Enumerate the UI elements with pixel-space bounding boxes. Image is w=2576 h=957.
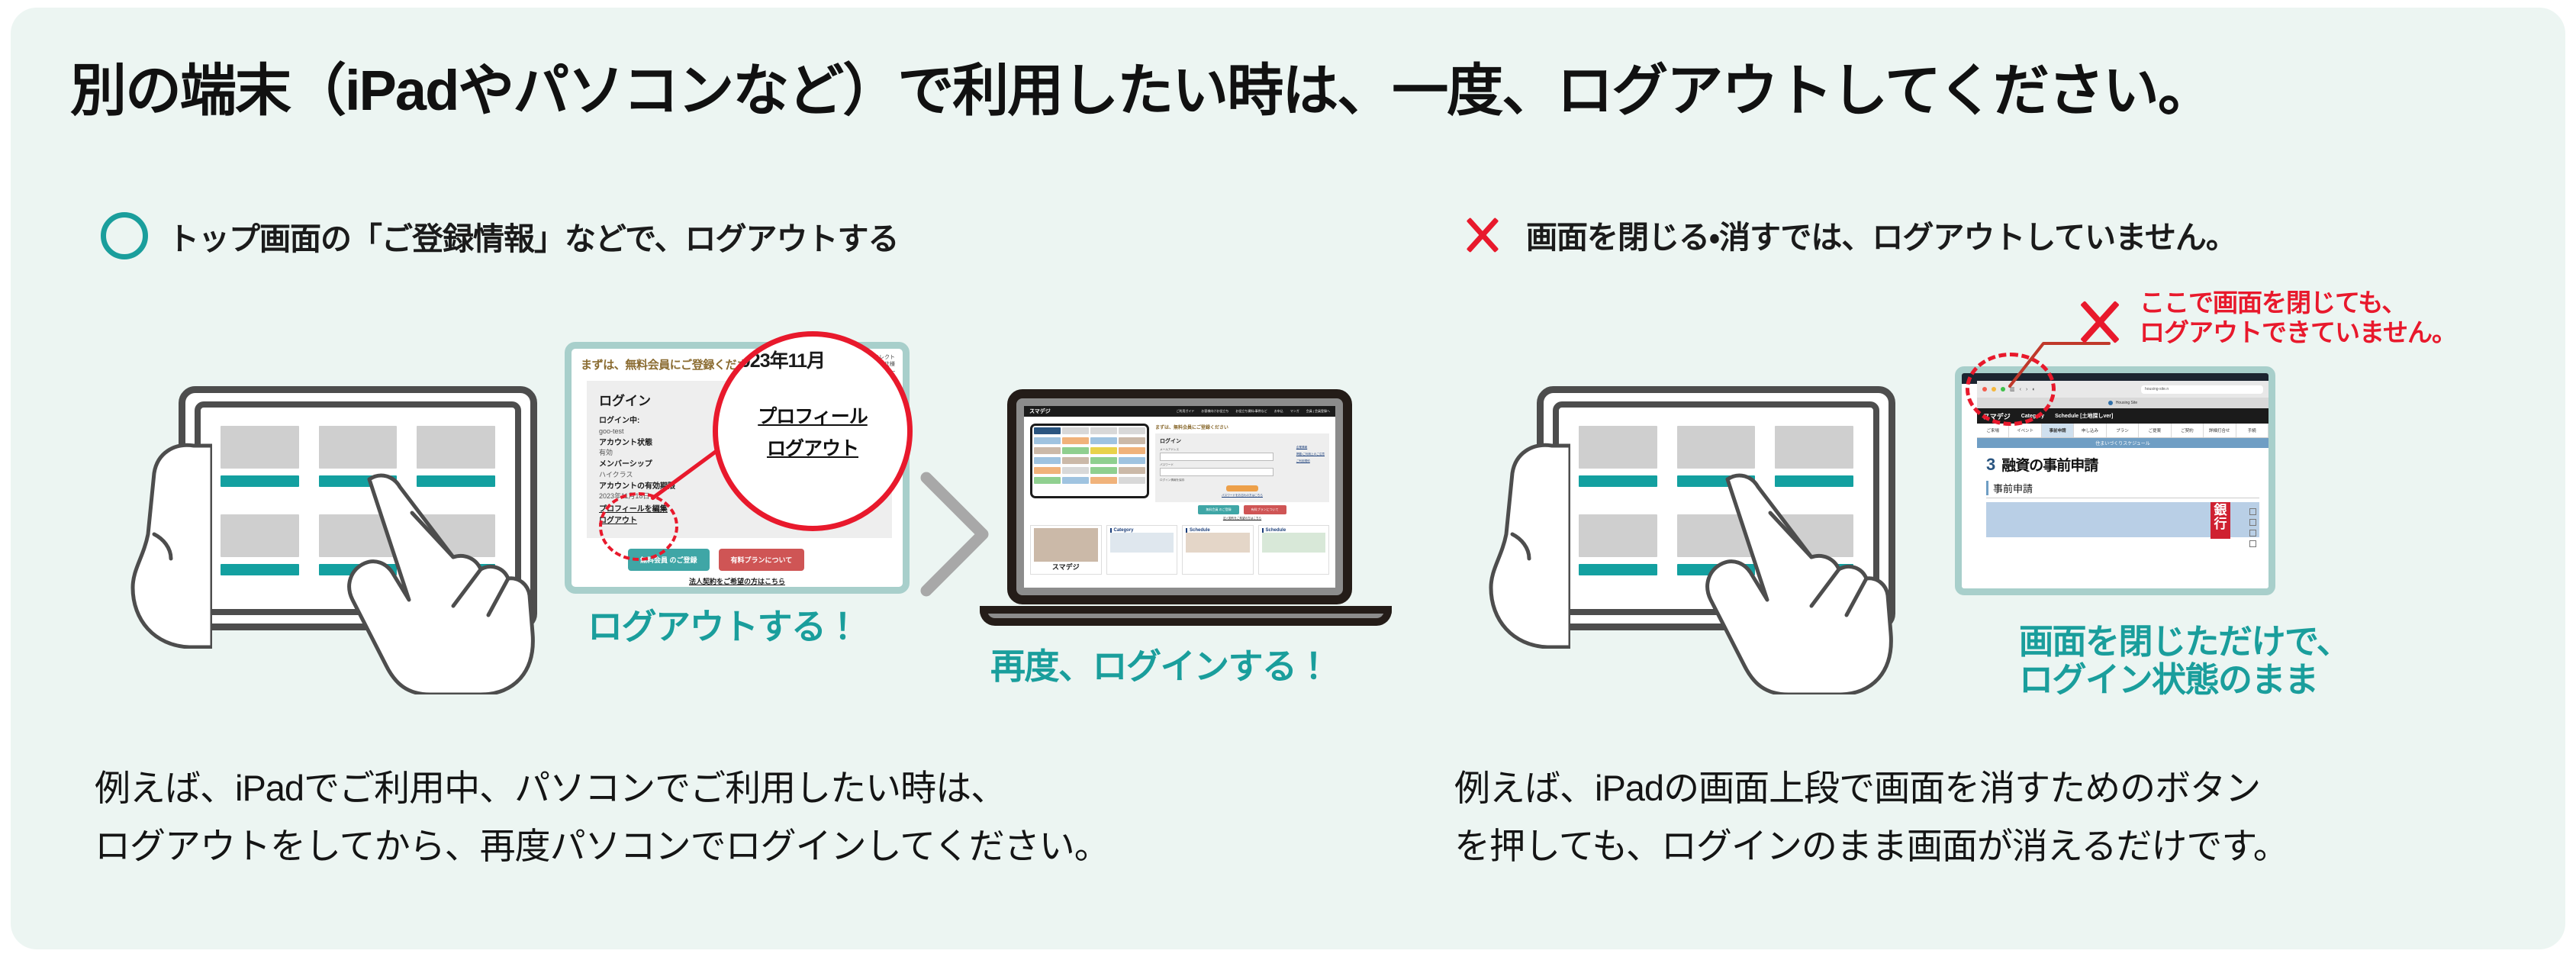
site-login-column: まずは、無料会員にご登録ください ログイン メールアドレス パスワード ログイン… xyxy=(1155,424,1329,520)
magnified-logout-link[interactable]: ログアウト xyxy=(767,433,858,461)
left-body-text: 例えば、iPadでご利用中、パソコンでご利用したい時は、 ログアウトをしてから、… xyxy=(95,759,1109,875)
tile-thumbnail xyxy=(221,514,299,557)
step-tab[interactable]: ご契約 xyxy=(2172,424,2204,437)
page-heading: 3 融資の事前申請 xyxy=(1977,448,2268,478)
divider xyxy=(1986,498,2259,498)
brand-name: スマデジ xyxy=(1034,562,1098,572)
state-line-1: 画面を閉じただけで、 xyxy=(2019,623,2349,661)
site-nav-item[interactable]: お役立ち資料・事例など xyxy=(1235,409,1267,414)
site-body: まずは、無料会員にご登録ください ログイン メールアドレス パスワード ログイン… xyxy=(1024,417,1335,520)
right-body-line-2: を押しても、ログインのまま画面が消えるだけです。 xyxy=(1454,817,2288,875)
favicon-icon xyxy=(2108,401,2113,405)
left-tablet-illustration xyxy=(148,359,575,687)
step-tab[interactable]: 詳細打合せ xyxy=(2204,424,2236,437)
magnified-view: 2023年11月 プロフィール ログアウト xyxy=(713,331,913,531)
schedule-card-2[interactable]: Schedule xyxy=(1258,525,1330,575)
right-subheading: 画面を閉じる・消すでは、ログアウトしていません。 xyxy=(1459,211,2236,258)
heading-title: 融資の事前申請 xyxy=(2001,454,2098,475)
schedule-card[interactable]: Schedule xyxy=(1182,525,1254,575)
checklist xyxy=(2249,508,2256,547)
side-link[interactable]: ご利用規約 xyxy=(1296,459,1325,463)
hand-holding-icon xyxy=(1479,443,1570,649)
site-nav-item[interactable]: お申込 xyxy=(1274,409,1283,414)
step-tab-active[interactable]: 事前申請 xyxy=(2042,424,2074,437)
section-image: 銀行 xyxy=(1986,502,2259,537)
laptop-lid: スマデジ ご利用ガイド お客様向けお役立ち お役立ち資料・事例など お申込 マン… xyxy=(1007,389,1352,604)
right-tablet-illustration xyxy=(1506,359,1934,687)
site-nav-item[interactable]: 会員 | 会員登録へ xyxy=(1306,409,1330,414)
free-signup-button[interactable]: 無料会員 のご登録 xyxy=(1198,505,1238,514)
warning-x-icon xyxy=(2071,293,2129,351)
brand-photo xyxy=(1034,528,1098,562)
tile-thumbnail xyxy=(221,426,299,469)
brand-card: スマデジ xyxy=(1030,525,1102,575)
warning-line-1: ここで画面を閉じても、 xyxy=(2140,288,2456,318)
hand-pointing-icon xyxy=(339,443,591,694)
tile-bar xyxy=(1579,564,1657,575)
step-tab[interactable]: プラン xyxy=(2107,424,2139,437)
left-subheading-label: トップ画面の「ご登録情報」などで、ログアウトする xyxy=(168,213,899,259)
state-line-2: ログイン状態のまま xyxy=(2019,661,2349,699)
site-logo: スマデジ xyxy=(1029,408,1051,415)
site-nav-item[interactable]: ご利用ガイド xyxy=(1176,409,1194,414)
tile-bar xyxy=(1579,475,1657,487)
content-tile xyxy=(221,514,299,591)
side-link[interactable]: 企業情報 xyxy=(1296,446,1325,449)
site-nav-item[interactable]: マンガ xyxy=(1290,409,1299,414)
browser-tab-title: Housing Site xyxy=(2116,401,2137,405)
tile-thumbnail xyxy=(1579,426,1657,469)
category-card[interactable]: Category xyxy=(1106,525,1178,575)
section-title: 事前申請 xyxy=(1986,481,2259,495)
login-submit-button[interactable] xyxy=(1226,485,1258,491)
relogin-callout: 再度、ログインする！ xyxy=(990,647,1330,687)
warning-line-2: ログアウトできていません。 xyxy=(2140,318,2456,348)
warning-callout: ここで画面を閉じても、 ログアウトできていません。 xyxy=(2140,288,2456,348)
address-bar[interactable]: housing-site.n xyxy=(2141,385,2263,394)
highlight-ellipse xyxy=(599,492,678,561)
laptop-screen: スマデジ ご利用ガイド お客様向けお役立ち お役立ち資料・事例など お申込 マン… xyxy=(1024,406,1335,588)
magnified-date: 2023年11月 xyxy=(730,346,825,373)
stay-logged-in-callout: 画面を閉じただけで、 ログイン状態のまま xyxy=(2019,623,2349,700)
site-nav-item[interactable]: お客様向けお役立ち xyxy=(1201,409,1228,414)
hero-schedule-image xyxy=(1030,424,1149,498)
laptop-base xyxy=(980,606,1392,626)
site-navbar: スマデジ ご利用ガイド お客様向けお役立ち お役立ち資料・事例など お申込 マン… xyxy=(1024,406,1335,417)
right-subheading-label: 画面を閉じる・消すでは、ログアウトしていません。 xyxy=(1526,211,2236,257)
site-card-row: スマデジ Category Schedule Schedule xyxy=(1024,520,1335,579)
circle-ok-icon xyxy=(101,212,148,259)
laptop-illustration: スマデジ ご利用ガイド お客様向けお役立ち お役立ち資料・事例など お申込 マン… xyxy=(980,389,1392,656)
page-ribbon: 住まいづくりスケジュール xyxy=(1977,438,2268,448)
left-body-line-2: ログアウトをしてから、再度パソコンでログインしてください。 xyxy=(95,817,1109,875)
corporate-contract-link[interactable]: 法人契約をご希望の方はこちら xyxy=(1155,517,1329,520)
magnified-profile-link[interactable]: プロフィール xyxy=(758,401,868,429)
content-tile xyxy=(1579,426,1657,502)
side-link[interactable]: 掲載・ご利用上のご注意 xyxy=(1296,453,1325,456)
site-nav-items: ご利用ガイド お客様向けお役立ち お役立ち資料・事例など お申込 マンガ 会員 … xyxy=(1176,409,1330,414)
remember-me-checkbox[interactable]: ログイン情報を保存 xyxy=(1160,478,1325,482)
page-title: 別の端末（iPadやパソコンなど）で利用したい時は、一度、ログアウトしてください… xyxy=(70,63,2527,119)
right-body-line-1: 例えば、iPadの画面上段で画面を消すためのボタン xyxy=(1454,759,2288,817)
x-mark-icon xyxy=(1459,211,1506,258)
paid-plan-button[interactable]: 有料プランについて xyxy=(1244,505,1286,514)
right-body-text: 例えば、iPadの画面上段で画面を消すためのボタン を押しても、ログインのまま画… xyxy=(1454,759,2288,875)
left-body-line-1: 例えば、iPadでご利用中、パソコンでご利用したい時は、 xyxy=(95,759,1109,817)
login-form-heading: ログイン xyxy=(1160,437,1325,445)
tile-bar xyxy=(221,564,299,575)
hand-holding-icon xyxy=(121,443,212,649)
site-button-row: 無料会員 のご登録 有料プランについて xyxy=(1155,505,1329,514)
password-label: パスワード xyxy=(1160,463,1325,467)
step-tab[interactable]: ご来場 xyxy=(1977,424,2009,437)
tile-bar xyxy=(221,475,299,487)
step-tab[interactable]: 手続 xyxy=(2236,424,2268,437)
side-links: 企業情報 掲載・ご利用上のご注意 ご利用規約 xyxy=(1296,446,1325,463)
corporate-contract-link[interactable]: 法人契約をご希望の方はこちら xyxy=(572,576,903,586)
email-field[interactable] xyxy=(1160,453,1274,461)
step-tab[interactable]: ご提案 xyxy=(2139,424,2171,437)
poster-card: 別の端末（iPadやパソコンなど）で利用したい時は、一度、ログアウトしてください… xyxy=(11,8,2565,949)
hand-pointing-icon xyxy=(1697,443,1949,694)
forgot-password-link[interactable]: パスワードをお忘れの方はこちら xyxy=(1160,494,1325,498)
tile-thumbnail xyxy=(1579,514,1657,557)
bank-sign: 銀行 xyxy=(2211,502,2230,539)
password-field[interactable] xyxy=(1160,468,1274,476)
nav-schedule[interactable]: Schedule [土地探しver] xyxy=(2055,412,2113,420)
logout-callout: ログアウトする！ xyxy=(588,607,859,647)
left-subheading: トップ画面の「ご登録情報」などで、ログアウトする xyxy=(101,212,899,259)
login-form-panel: ログイン メールアドレス パスワード ログイン情報を保存 パスワードをお忘れの方… xyxy=(1155,433,1329,502)
step-tab-strip: ご来場 イベント 事前申請 申し込み プラン ご提案 ご契約 詳細打合せ 手続 xyxy=(1977,424,2268,438)
paid-plan-button[interactable]: 有料プランについて xyxy=(719,549,805,571)
heading-number: 3 xyxy=(1986,455,1995,475)
content-tile xyxy=(221,426,299,502)
step-tab[interactable]: 申し込み xyxy=(2074,424,2106,437)
content-tile xyxy=(1579,514,1657,591)
login-column-title: まずは、無料会員にご登録ください xyxy=(1155,424,1329,430)
